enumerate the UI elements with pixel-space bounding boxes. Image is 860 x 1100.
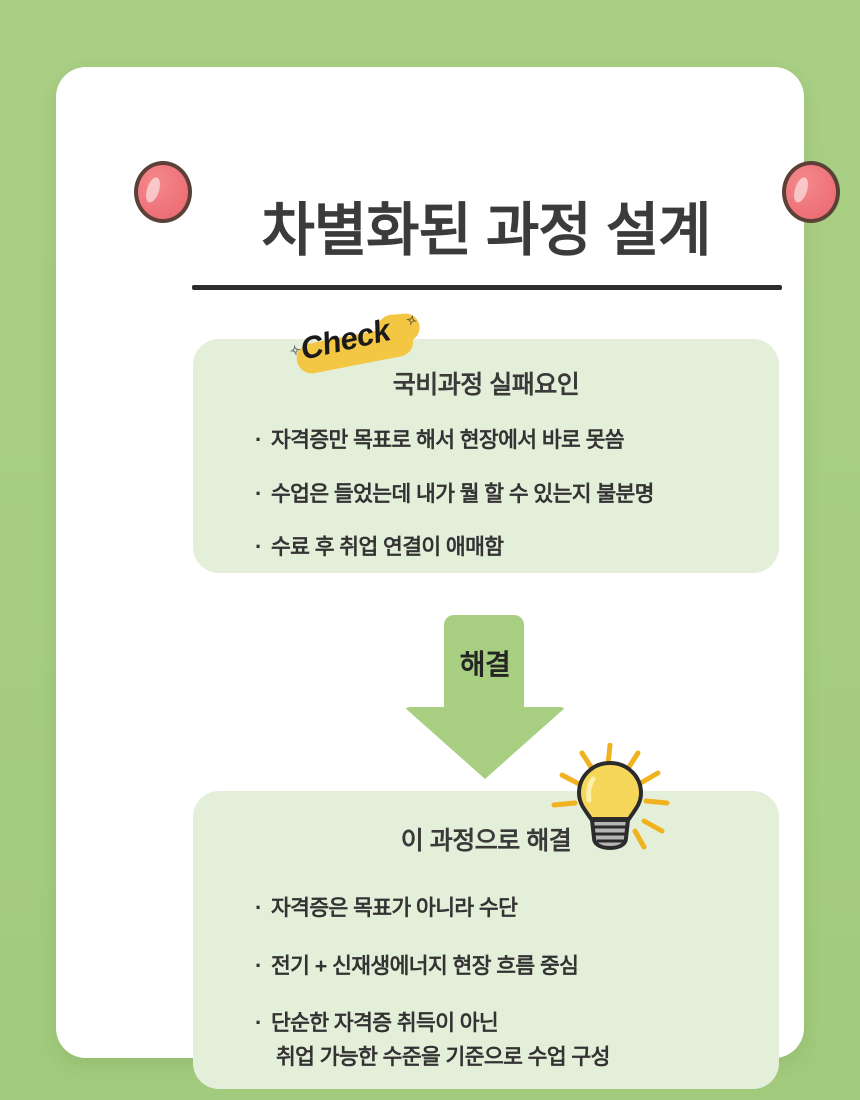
solution-card: 이 과정으로 해결 자격증은 목표가 아니라 수단 전기 + 신재생에너지 현장… bbox=[193, 791, 779, 1089]
list-item: 전기 + 신재생에너지 현장 흐름 중심 bbox=[255, 953, 779, 981]
list-item: 자격증만 목표로 해서 현장에서 바로 못씀 bbox=[255, 427, 779, 455]
list-item-line1: 단순한 자격증 취득이 아닌 bbox=[271, 1011, 498, 1035]
content-panel: 차별화된 과정 설계 국비과정 실패요인 자격증만 목표로 해서 현장에서 바로… bbox=[56, 67, 804, 1058]
list-item: 단순한 자격증 취득이 아닌 취업 가능한 수준을 기준으로 수업 구성 bbox=[255, 1010, 779, 1071]
infographic-canvas: 차별화된 과정 설계 국비과정 실패요인 자격증만 목표로 해서 현장에서 바로… bbox=[0, 0, 860, 1100]
lightbulb-icon bbox=[548, 743, 672, 855]
solution-arrow: 해결 bbox=[404, 615, 566, 779]
solution-bullet-list: 자격증은 목표가 아니라 수단 전기 + 신재생에너지 현장 흐름 중심 단순한… bbox=[193, 895, 779, 1071]
list-item-line1: 자격증은 목표가 아니라 수단 bbox=[271, 896, 517, 920]
problem-card-heading: 국비과정 실패요인 bbox=[193, 365, 779, 401]
page-title: 차별화된 과정 설계 bbox=[112, 183, 860, 267]
list-item-line1: 전기 + 신재생에너지 현장 흐름 중심 bbox=[271, 954, 578, 978]
problem-bullet-list: 자격증만 목표로 해서 현장에서 바로 못씀 수업은 들었는데 내가 뭘 할 수… bbox=[193, 427, 779, 562]
list-item-line2: 취업 가능한 수준을 기준으로 수업 구성 bbox=[271, 1044, 779, 1072]
solution-card-heading: 이 과정으로 해결 bbox=[193, 821, 779, 857]
list-item: 수업은 들었는데 내가 뭘 할 수 있는지 불분명 bbox=[255, 481, 779, 509]
arrow-head-icon bbox=[404, 707, 566, 779]
arrow-label: 해결 bbox=[404, 643, 566, 683]
check-badge: ✧ ✧ Check bbox=[288, 317, 420, 373]
problem-card: 국비과정 실패요인 자격증만 목표로 해서 현장에서 바로 못씀 수업은 들었는… bbox=[193, 339, 779, 573]
list-item: 수료 후 취업 연결이 애매함 bbox=[255, 534, 779, 562]
title-divider bbox=[192, 285, 782, 290]
list-item: 자격증은 목표가 아니라 수단 bbox=[255, 895, 779, 923]
